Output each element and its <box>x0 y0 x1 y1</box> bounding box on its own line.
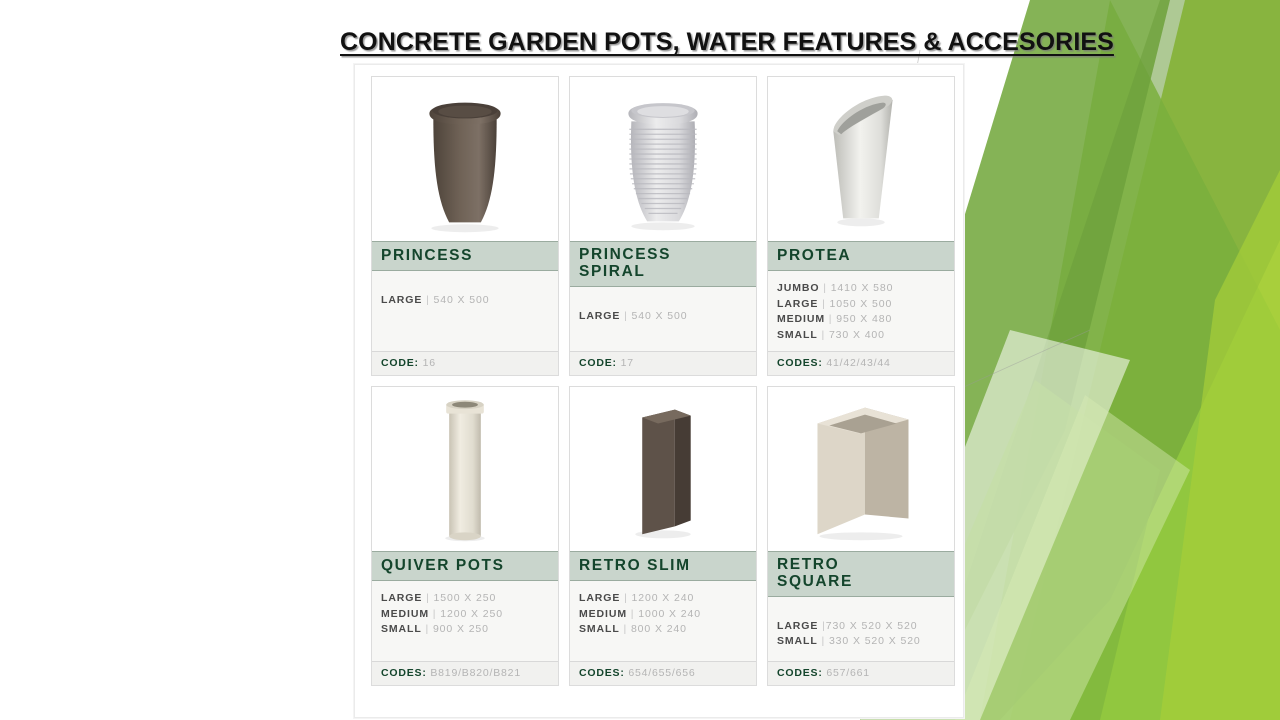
product-photo <box>372 77 558 241</box>
size-dimensions: 540 X 500 <box>632 310 688 322</box>
size-dimensions: 1000 X 240 <box>638 608 701 620</box>
product-code-bar: CODES: 41/42/43/44 <box>768 351 954 375</box>
size-separator: | <box>429 608 440 620</box>
product-name-line: QUIVER POTS <box>381 557 549 574</box>
size-separator: | <box>422 592 433 604</box>
product-photo <box>570 387 756 551</box>
presentation-slide: CONCRETE GARDEN POTS, WATER FEATURES & A… <box>0 0 1280 720</box>
size-label: MEDIUM <box>777 313 825 325</box>
size-separator: | <box>620 592 631 604</box>
size-label: LARGE <box>381 592 422 604</box>
size-separator: | <box>825 313 836 325</box>
size-label: LARGE <box>381 294 422 306</box>
size-separator: | <box>818 329 829 341</box>
product-size-row: LARGE |730 X 520 X 520 <box>777 619 945 635</box>
product-size-row: LARGE | 1050 X 500 <box>777 297 945 313</box>
product-size-row: MEDIUM | 1000 X 240 <box>579 607 747 623</box>
size-separator: | <box>818 620 825 632</box>
size-separator: | <box>627 608 638 620</box>
product-card[interactable]: RETRO SLIMLARGE | 1200 X 240MEDIUM | 100… <box>569 386 757 686</box>
product-code-bar: CODE: 16 <box>372 351 558 375</box>
product-name-line: RETRO SLIM <box>579 557 747 574</box>
code-label: CODES: <box>579 667 625 679</box>
product-size-list: LARGE |730 X 520 X 520SMALL | 330 X 520 … <box>768 597 954 661</box>
size-label: JUMBO <box>777 282 819 294</box>
catalogue-page-panel: PRINCESSLARGE | 540 X 500CODE: 16 PRINCE… <box>354 64 964 718</box>
size-dimensions: 950 X 480 <box>836 313 892 325</box>
code-label: CODES: <box>777 667 823 679</box>
size-label: SMALL <box>777 329 818 341</box>
code-label: CODE: <box>381 357 419 369</box>
product-name-line: RETRO <box>777 556 945 573</box>
product-name-line: SPIRAL <box>579 263 747 280</box>
size-dimensions: 540 X 500 <box>434 294 490 306</box>
product-code-bar: CODES: 654/655/656 <box>570 661 756 685</box>
code-value: 17 <box>621 357 634 369</box>
size-separator: | <box>422 294 433 306</box>
size-dimensions: 900 X 250 <box>433 623 489 635</box>
product-photo <box>768 77 954 241</box>
size-dimensions: 730 X 400 <box>829 329 885 341</box>
product-name-bar: RETROSQUARE <box>768 551 954 597</box>
product-size-row: MEDIUM | 950 X 480 <box>777 312 945 328</box>
product-card[interactable]: PROTEAJUMBO | 1410 X 580LARGE | 1050 X 5… <box>767 76 955 376</box>
product-size-list: LARGE | 540 X 500 <box>570 287 756 351</box>
size-separator: | <box>620 310 631 322</box>
column-pot-icon <box>372 387 558 551</box>
code-label: CODE: <box>579 357 617 369</box>
urn-pot-icon <box>372 77 558 241</box>
product-card[interactable]: RETROSQUARELARGE |730 X 520 X 520SMALL |… <box>767 386 955 686</box>
size-label: LARGE <box>579 310 620 322</box>
angled-cone-pot-icon <box>768 77 954 241</box>
product-card[interactable]: QUIVER POTSLARGE | 1500 X 250MEDIUM | 12… <box>371 386 559 686</box>
code-value: 41/42/43/44 <box>826 357 890 369</box>
product-code-bar: CODES: B819/B820/B821 <box>372 661 558 685</box>
size-dimensions: 800 X 240 <box>631 623 687 635</box>
size-separator: | <box>620 623 631 635</box>
product-photo <box>768 387 954 551</box>
size-label: SMALL <box>381 623 422 635</box>
product-size-row: SMALL | 730 X 400 <box>777 328 945 344</box>
product-name-bar: PROTEA <box>768 241 954 271</box>
tall-rectangular-planter-icon <box>570 387 756 551</box>
product-size-row: LARGE | 1500 X 250 <box>381 591 549 607</box>
size-label: LARGE <box>579 592 620 604</box>
product-name-bar: PRINCESSSPIRAL <box>570 241 756 287</box>
size-label: MEDIUM <box>579 608 627 620</box>
size-label: LARGE <box>777 620 818 632</box>
product-size-row: SMALL | 900 X 250 <box>381 622 549 638</box>
product-photo <box>570 77 756 241</box>
product-size-row: LARGE | 1200 X 240 <box>579 591 747 607</box>
product-size-row: SMALL | 330 X 520 X 520 <box>777 634 945 650</box>
product-size-list: LARGE | 1200 X 240MEDIUM | 1000 X 240SMA… <box>570 581 756 661</box>
size-label: SMALL <box>579 623 620 635</box>
product-size-list: LARGE | 1500 X 250MEDIUM | 1200 X 250SMA… <box>372 581 558 661</box>
code-value: B819/B820/B821 <box>430 667 521 679</box>
code-value: 657/661 <box>826 667 870 679</box>
product-name-line: PRINCESS <box>381 247 549 264</box>
product-size-row: LARGE | 540 X 500 <box>381 293 549 309</box>
slide-title: CONCRETE GARDEN POTS, WATER FEATURES & A… <box>340 28 1020 57</box>
size-dimensions: 1500 X 250 <box>434 592 497 604</box>
product-size-row: SMALL | 800 X 240 <box>579 622 747 638</box>
product-card[interactable]: PRINCESSSPIRALLARGE | 540 X 500CODE: 17 <box>569 76 757 376</box>
size-dimensions: 730 X 520 X 520 <box>826 620 918 632</box>
product-name-line: PROTEA <box>777 247 945 264</box>
size-label: SMALL <box>777 635 818 647</box>
size-separator: | <box>818 635 829 647</box>
product-name-bar: QUIVER POTS <box>372 551 558 581</box>
product-name-bar: PRINCESS <box>372 241 558 271</box>
product-card[interactable]: PRINCESSLARGE | 540 X 500CODE: 16 <box>371 76 559 376</box>
size-dimensions: 1200 X 250 <box>440 608 503 620</box>
ribbed-urn-pot-icon <box>570 77 756 241</box>
size-separator: | <box>422 623 433 635</box>
product-name-line: PRINCESS <box>579 246 747 263</box>
product-size-list: LARGE | 540 X 500 <box>372 271 558 351</box>
product-grid: PRINCESSLARGE | 540 X 500CODE: 16 PRINCE… <box>371 76 955 686</box>
size-dimensions: 1410 X 580 <box>831 282 894 294</box>
product-size-row: LARGE | 540 X 500 <box>579 309 747 325</box>
product-code-bar: CODE: 17 <box>570 351 756 375</box>
size-label: LARGE <box>777 298 818 310</box>
cube-planter-icon <box>768 387 954 551</box>
code-value: 654/655/656 <box>628 667 695 679</box>
product-size-row: JUMBO | 1410 X 580 <box>777 281 945 297</box>
product-code-bar: CODES: 657/661 <box>768 661 954 685</box>
product-size-list: JUMBO | 1410 X 580LARGE | 1050 X 500MEDI… <box>768 271 954 351</box>
code-value: 16 <box>423 357 436 369</box>
size-dimensions: 1200 X 240 <box>632 592 695 604</box>
size-dimensions: 1050 X 500 <box>830 298 893 310</box>
size-separator: | <box>819 282 830 294</box>
size-label: MEDIUM <box>381 608 429 620</box>
size-separator: | <box>818 298 829 310</box>
code-label: CODES: <box>777 357 823 369</box>
size-dimensions: 330 X 520 X 520 <box>829 635 921 647</box>
product-photo <box>372 387 558 551</box>
product-name-bar: RETRO SLIM <box>570 551 756 581</box>
code-label: CODES: <box>381 667 427 679</box>
product-size-row: MEDIUM | 1200 X 250 <box>381 607 549 623</box>
product-name-line: SQUARE <box>777 573 945 590</box>
